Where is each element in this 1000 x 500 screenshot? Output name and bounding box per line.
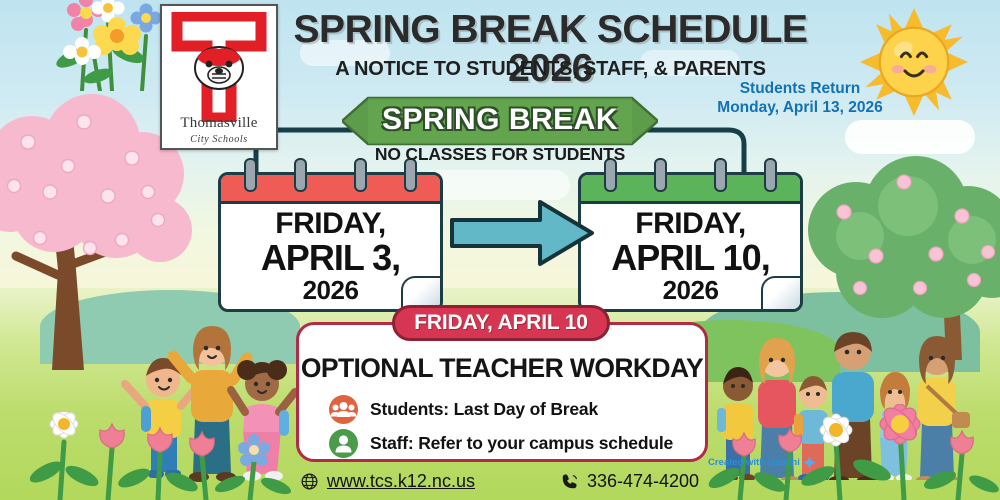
no-classes-label: NO CLASSES FOR STUDENTS (330, 144, 670, 165)
workday-row-staff: Staff: Refer to your campus schedule (329, 429, 673, 458)
page-curl (761, 276, 801, 310)
students-return-notice: Students Return Monday, April 13, 2026 (690, 79, 910, 118)
workday-row-students: Students: Last Day of Break (329, 395, 598, 424)
workday-row-label: Staff: (370, 433, 414, 453)
workday-row-detail: Last Day of Break (454, 399, 598, 419)
right-arrow-icon (448, 196, 596, 270)
thomasville-city-schools-logo: Thomasville City Schools (160, 4, 278, 150)
calendar-ring (764, 158, 777, 192)
calendar-card-start: FRIDAY, APRIL 3, 2026 (218, 172, 443, 312)
calendar-body: FRIDAY, APRIL 3, 2026 (218, 172, 443, 312)
logo-name: Thomasville (162, 115, 276, 132)
calendar-date: APRIL 10, (581, 240, 800, 277)
workday-row-label: Students: (370, 399, 449, 419)
calendar-date: APRIL 3, (221, 240, 440, 277)
logo-subtitle: City Schools (162, 134, 276, 145)
logo-t-mark (167, 12, 271, 122)
footer-phone[interactable]: 336-474-4200 (561, 471, 699, 492)
spring-break-label: SPRING BREAK (355, 98, 645, 142)
website-url[interactable]: www.tcs.k12.nc.us (327, 471, 475, 492)
phone-icon (561, 473, 578, 490)
optional-teacher-workday-box: OPTIONAL TEACHER WORKDAY Students: Last … (296, 322, 708, 462)
globe-icon (301, 473, 318, 490)
group-icon (329, 395, 358, 424)
calendar-ring (244, 158, 257, 192)
calendar-weekday: FRIDAY, (581, 209, 800, 240)
footer-website[interactable]: www.tcs.k12.nc.us (301, 471, 475, 492)
spring-break-poster: Thomasville City Schools SPRING BREAK SC… (0, 0, 1000, 500)
spring-break-ribbon-label-wrap: SPRING BREAK (355, 98, 645, 142)
calendar-ring (294, 158, 307, 192)
workday-row-text: Staff: Refer to your campus schedule (370, 433, 673, 454)
calendar-body: FRIDAY, APRIL 10, 2026 (578, 172, 803, 312)
workday-row-detail: Refer to your campus schedule (418, 433, 673, 453)
phone-number[interactable]: 336-474-4200 (587, 471, 699, 492)
workday-title: OPTIONAL TEACHER WORKDAY (299, 353, 705, 384)
friday-april-10-badge: FRIDAY, APRIL 10 (392, 305, 610, 341)
students-return-line2: Monday, April 13, 2026 (690, 98, 910, 117)
person-icon (329, 429, 358, 458)
calendar-weekday: FRIDAY, (221, 209, 440, 240)
page-subtitle: A NOTICE TO STUDENTS, STAFF, & PARENTS (278, 58, 823, 81)
blossom-tree-right (796, 120, 1000, 360)
students-return-line1: Students Return (690, 79, 910, 98)
workday-row-text: Students: Last Day of Break (370, 399, 598, 420)
footer: www.tcs.k12.nc.us 336-474-4200 (0, 466, 1000, 496)
calendar-card-end: FRIDAY, APRIL 10, 2026 (578, 172, 803, 312)
calendar-ring (714, 158, 727, 192)
